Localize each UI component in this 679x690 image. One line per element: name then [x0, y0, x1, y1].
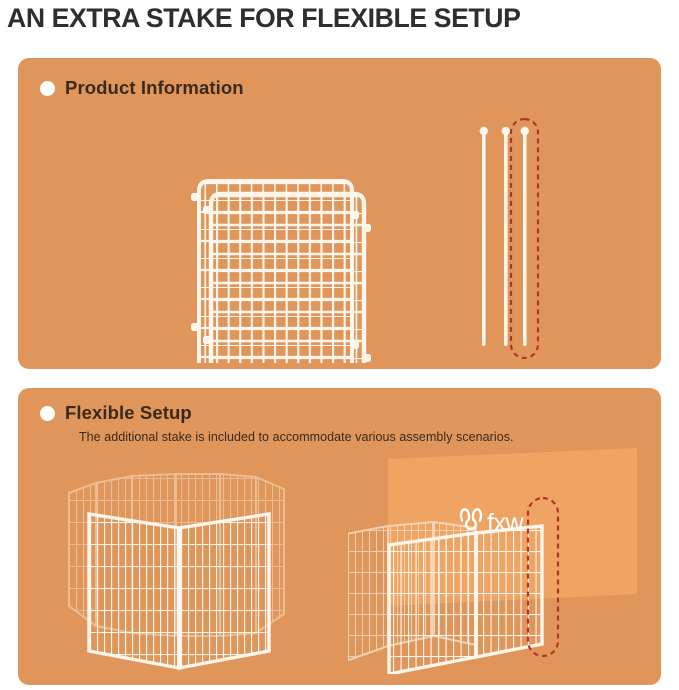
- stake-2: [502, 127, 510, 346]
- wall-playpen-illustration: [348, 446, 648, 674]
- ground-stakes-illustration: [438, 113, 578, 363]
- fence-panel-front: [203, 194, 371, 363]
- stake-1: [480, 127, 488, 346]
- octagon-playpen-illustration: [48, 456, 348, 671]
- card-flexible-header: Flexible Setup: [40, 402, 192, 424]
- wire-fence-panels-illustration: [158, 113, 398, 363]
- card-flexible-subtitle: The additional stake is included to acco…: [79, 430, 514, 444]
- card-product-information: Product Information: [18, 58, 661, 369]
- bullet-dot-icon: [40, 406, 55, 421]
- page-title: AN EXTRA STAKE FOR FLEXIBLE SETUP: [7, 0, 679, 36]
- card-product-header: Product Information: [40, 77, 244, 99]
- stake-3-highlighted: [521, 127, 529, 346]
- playpen-panels-near: [89, 514, 269, 668]
- bullet-dot-icon: [40, 81, 55, 96]
- card-product-title: Product Information: [65, 77, 244, 99]
- wall-playpen-near-panels: [389, 526, 542, 674]
- card-flexible-title: Flexible Setup: [65, 402, 192, 424]
- card-flexible-setup: Flexible Setup The additional stake is i…: [18, 388, 661, 685]
